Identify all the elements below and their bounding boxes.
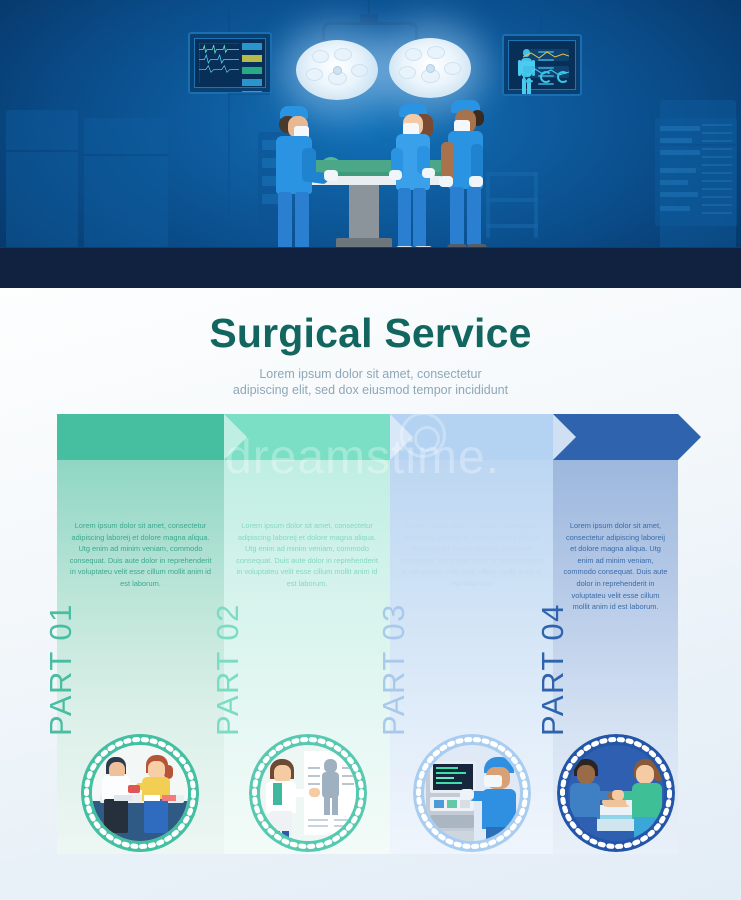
surgeon-right [445,100,493,256]
surgical-lamp-right-icon [389,38,471,98]
part-arrow-02[interactable] [224,414,413,460]
equipment-rack [486,172,538,238]
infographic-page: Surgical Service Lorem ipsum dolor sit a… [0,0,741,900]
surgeon-center [393,104,441,256]
iv-bag [259,95,269,111]
icon-art-01 [92,745,188,841]
arrow-notch-03 [390,414,413,460]
ecg-readout-bars [242,43,262,83]
part-text-04: Lorem ipsum dolor sit amet, consectetur … [563,520,668,613]
part-label-02: PART 02 [210,603,246,736]
part-label-01: PART 01 [43,603,79,736]
ceiling-rod-right [540,0,542,34]
part-label-04: PART 04 [535,603,571,736]
page-title: Surgical Service [0,310,741,357]
surgical-lamp-left-icon [296,40,378,100]
wall-cabinet-left-2 [84,118,168,250]
part-panel-01[interactable]: Lorem ipsum dolor sit amet, consectetur … [57,458,224,854]
page-subtitle: Lorem ipsum dolor sit amet, consectetur … [0,366,741,398]
part-icon-circle-02[interactable] [249,734,367,852]
lamp-arm-bracket [322,22,418,40]
parts-section: Lorem ipsum dolor sit amet, consectetur … [0,414,741,854]
page-subtitle-line2: adipiscing elit, sed dox eiusmod tempor … [0,382,741,398]
icon-art-04 [568,745,664,841]
arrow-notch-02 [224,414,247,460]
part-arrow-04[interactable] [553,414,701,460]
arrow-notch-04 [553,414,576,460]
part-text-03: Lorem ipsum dolor sit amet, consectetur … [400,520,543,590]
operating-table-column [349,185,379,241]
part-text-01: Lorem ipsum dolor sit amet, consectetur … [67,520,214,590]
icon-art-02 [260,745,356,841]
part-arrow-01[interactable] [57,414,247,460]
hero-operating-room-illustration [0,0,741,288]
part-panel-03[interactable]: Lorem ipsum dolor sit amet, consectetur … [390,458,553,854]
part-icon-circle-03[interactable] [413,734,531,852]
part-panel-04[interactable]: Lorem ipsum dolor sit amet, consectetur … [553,458,678,854]
part-icon-circle-01[interactable] [81,734,199,852]
surgeon-left [272,106,320,258]
part-text-02: Lorem ipsum dolor sit amet, consectetur … [234,520,380,590]
iv-pole [228,93,230,241]
vitals-monitor [502,34,582,96]
wall-cabinet-left-1 [6,110,78,250]
part-arrow-03[interactable] [390,414,576,460]
wall-chart-panel [655,118,737,226]
page-subtitle-line1: Lorem ipsum dolor sit amet, consectetur [0,366,741,382]
vitals-gauges [523,71,569,83]
vitals-waveform-1 [523,49,569,61]
part-panel-02[interactable]: Lorem ipsum dolor sit amet, consectetur … [224,458,390,854]
part-label-03: PART 03 [376,603,412,736]
icon-art-03 [424,745,520,841]
content-area: Surgical Service Lorem ipsum dolor sit a… [0,288,741,900]
floor [0,248,741,288]
ceiling-rod-left [228,0,230,32]
part-icon-circle-04[interactable] [557,734,675,852]
ecg-monitor [188,32,272,94]
